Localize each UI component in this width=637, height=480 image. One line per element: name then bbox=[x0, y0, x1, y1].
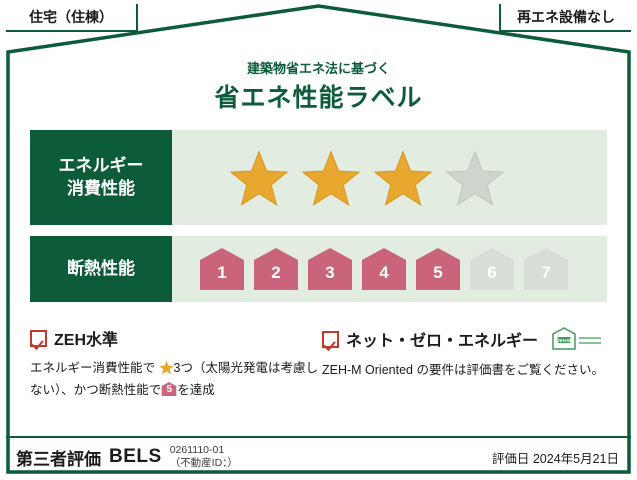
zeh-text-star-count: 3つ bbox=[174, 361, 193, 375]
insulation-grade-4: 4 bbox=[360, 246, 408, 292]
insulation-grade-2-value: 2 bbox=[252, 246, 300, 292]
insulation-grade-3-value: 3 bbox=[306, 246, 354, 292]
insulation-grade-1-value: 1 bbox=[198, 246, 246, 292]
insulation-grade-1: 1 bbox=[198, 246, 246, 292]
svg-text:ZEH-M: ZEH-M bbox=[557, 338, 571, 343]
energy-label-line2: 消費性能 bbox=[67, 178, 135, 201]
insulation-grade-6: 6 bbox=[468, 246, 516, 292]
net-zero-description: ZEH-M Oriented の要件は評価書をご覧ください。 bbox=[322, 360, 614, 382]
certificate-ids: 0261110-01 （不動産ID：） bbox=[170, 444, 238, 470]
insulation-performance-row: 断熱性能 1 2 3 4 5 bbox=[30, 236, 607, 302]
heading-subtitle: 建築物省エネ法に基づく bbox=[0, 58, 637, 77]
checkbox-checked-icon bbox=[30, 330, 47, 347]
net-zero-energy-block: ネット・ゼロ・エネルギー ZEH-M ZEH-M Oriented の要件は評価… bbox=[322, 326, 614, 382]
insulation-grade-4-value: 4 bbox=[360, 246, 408, 292]
zeh-standard-title: ZEH水準 bbox=[54, 326, 118, 350]
page-title: 省エネ性能ラベル bbox=[0, 78, 637, 114]
certificate-id: 0261110-01 bbox=[170, 444, 238, 457]
star-icon bbox=[230, 150, 288, 206]
insulation-badge-inline: 5 bbox=[161, 381, 177, 397]
insulation-grade-2: 2 bbox=[252, 246, 300, 292]
star-rating bbox=[230, 130, 504, 225]
insulation-grade-5-value: 5 bbox=[414, 246, 462, 292]
real-estate-id: （不動産ID：） bbox=[170, 457, 238, 470]
zeh-standard-check-line: ZEH水準 bbox=[30, 326, 320, 350]
zeh-text-part1: エネルギー消費性能で bbox=[30, 361, 155, 375]
third-party-eval-label: 第三者評価 bbox=[16, 445, 101, 470]
tag-renewable-energy: 再エネ設備なし bbox=[499, 4, 631, 32]
energy-performance-label-box: エネルギー 消費性能 bbox=[30, 130, 172, 225]
star-icon-empty bbox=[446, 150, 504, 206]
insulation-grade-5: 5 bbox=[414, 246, 462, 292]
tag-building-type: 住宅（住棟） bbox=[6, 4, 138, 32]
checkbox-checked-icon bbox=[322, 331, 339, 348]
insulation-label-box: 断熱性能 bbox=[30, 236, 172, 302]
star-icon bbox=[374, 150, 432, 206]
insulation-grade-7-value: 7 bbox=[522, 246, 570, 292]
insulation-grade-7: 7 bbox=[522, 246, 570, 292]
zeh-standard-block: ZEH水準 エネルギー消費性能で 3つ（太陽光発電は考慮しない）、かつ断熱性能で… bbox=[30, 326, 320, 402]
energy-performance-row: エネルギー 消費性能 bbox=[30, 130, 607, 225]
footer: 第三者評価 BELS 0261110-01 （不動産ID：） 評価日 2024年… bbox=[6, 436, 631, 476]
insulation-grade-6-value: 6 bbox=[468, 246, 516, 292]
star-icon bbox=[302, 150, 360, 206]
net-zero-title: ネット・ゼロ・エネルギー bbox=[346, 327, 538, 351]
insulation-label: 断熱性能 bbox=[67, 258, 135, 281]
bels-label: BELS bbox=[109, 446, 162, 468]
energy-performance-label: 住宅（住棟） 再エネ設備なし 建築物省エネ法に基づく 省エネ性能ラベル エネルギ… bbox=[0, 0, 637, 480]
energy-label-line1: エネルギー bbox=[59, 155, 144, 178]
zeh-text-part3: を達成 bbox=[177, 383, 215, 397]
insulation-grade-3: 3 bbox=[306, 246, 354, 292]
star-icon-inline bbox=[159, 360, 174, 375]
insulation-grade-scale: 1 2 3 4 5 6 7 bbox=[198, 236, 570, 302]
net-zero-check-line: ネット・ゼロ・エネルギー ZEH-M bbox=[322, 326, 614, 352]
zeh-m-mark-icon: ZEH-M bbox=[551, 326, 603, 352]
insulation-badge-value: 5 bbox=[161, 381, 177, 397]
evaluation-date: 評価日 2024年5月21日 bbox=[492, 448, 619, 467]
zeh-standard-description: エネルギー消費性能で 3つ（太陽光発電は考慮しない）、かつ断熱性能で5を達成 bbox=[30, 358, 320, 402]
